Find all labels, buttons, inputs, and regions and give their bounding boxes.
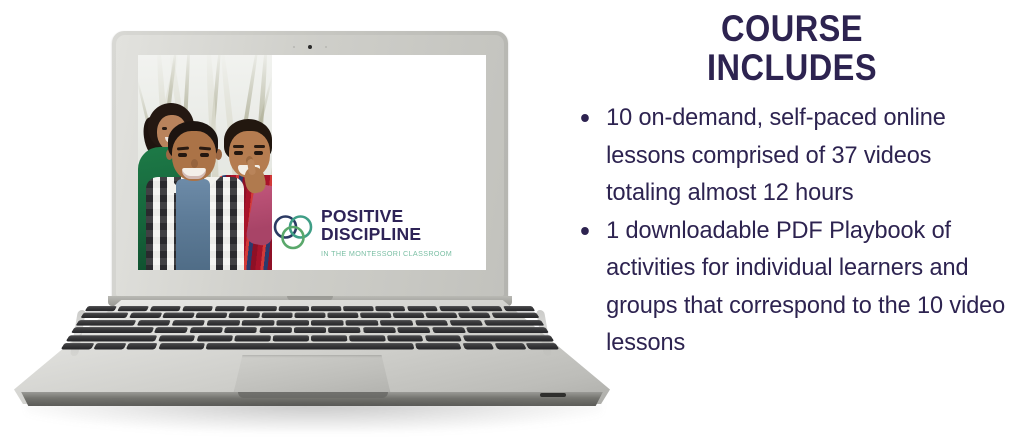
key[interactable] <box>137 320 172 326</box>
three-interlocking-circles-icon <box>272 213 314 256</box>
key[interactable] <box>503 306 536 311</box>
key-control[interactable] <box>93 343 126 349</box>
key[interactable] <box>397 327 431 333</box>
course-photo <box>138 55 272 270</box>
key-shift-left[interactable] <box>66 335 158 341</box>
key[interactable] <box>431 327 465 333</box>
course-includes-list: 10 on-demand, self-paced online lessons … <box>560 99 1024 362</box>
key[interactable] <box>346 320 379 326</box>
key[interactable] <box>196 335 233 341</box>
keyboard-row <box>85 306 536 311</box>
slide-white-area: POSITIVE DISCIPLINE IN THE MONTESSORI CL… <box>272 55 486 270</box>
page-title: COURSE INCLUDES <box>588 0 996 87</box>
key[interactable] <box>414 320 448 326</box>
key[interactable] <box>241 320 274 326</box>
bullet-icon <box>581 227 589 235</box>
key[interactable] <box>261 313 292 318</box>
laptop-keyboard[interactable] <box>61 306 560 349</box>
key-command[interactable] <box>158 343 204 349</box>
key[interactable] <box>471 306 503 311</box>
key[interactable] <box>224 327 257 333</box>
key[interactable] <box>85 306 118 311</box>
key[interactable] <box>294 327 326 333</box>
key[interactable] <box>195 313 227 318</box>
key[interactable] <box>387 335 424 341</box>
key-return[interactable] <box>466 327 549 333</box>
key[interactable] <box>182 306 213 311</box>
key[interactable] <box>426 313 458 318</box>
key[interactable] <box>360 313 391 318</box>
laptop-screen[interactable]: POSITIVE DISCIPLINE IN THE MONTESSORI CL… <box>138 55 486 270</box>
key-command[interactable] <box>415 343 461 349</box>
key-option[interactable] <box>462 343 494 349</box>
key[interactable] <box>449 320 484 326</box>
key[interactable] <box>439 306 471 311</box>
list-item: 1 downloadable PDF Playbook of activitie… <box>560 212 1005 362</box>
key[interactable] <box>425 335 463 341</box>
key[interactable] <box>311 320 343 326</box>
heading-line-1: COURSE <box>721 8 863 49</box>
logo-title-line1: POSITIVE <box>321 206 403 226</box>
keyboard-row <box>80 313 539 318</box>
list-item: 10 on-demand, self-paced online lessons … <box>560 99 1005 212</box>
heading-line-2: INCLUDES <box>588 48 996 87</box>
key[interactable] <box>129 313 162 318</box>
webcam-row <box>116 43 504 51</box>
key[interactable] <box>311 306 341 311</box>
key-caps[interactable] <box>71 327 154 333</box>
key[interactable] <box>279 306 309 311</box>
key[interactable] <box>458 313 491 318</box>
key-arrow[interactable] <box>494 343 527 349</box>
sensor-icon <box>293 46 295 48</box>
key[interactable] <box>328 313 359 318</box>
key[interactable] <box>162 313 194 318</box>
list-item-text: 10 on-demand, self-paced online lessons … <box>606 99 1005 212</box>
key-fn[interactable] <box>61 343 94 349</box>
logo-text: POSITIVE DISCIPLINE IN THE MONTESSORI CL… <box>321 208 478 260</box>
key[interactable] <box>259 327 292 333</box>
bullet-icon <box>581 114 589 122</box>
key[interactable] <box>273 335 309 341</box>
key-option[interactable] <box>126 343 158 349</box>
key[interactable] <box>149 306 181 311</box>
key[interactable] <box>393 313 425 318</box>
laptop-front-lip <box>238 392 388 398</box>
key[interactable] <box>349 335 385 341</box>
positive-discipline-logo: POSITIVE DISCIPLINE IN THE MONTESSORI CL… <box>272 208 478 260</box>
key[interactable] <box>117 306 149 311</box>
key[interactable] <box>246 306 276 311</box>
key[interactable] <box>80 313 129 318</box>
keyboard-row <box>71 327 549 333</box>
key[interactable] <box>154 327 188 333</box>
laptop-trackpad[interactable] <box>233 355 391 395</box>
list-item-text: 1 downloadable PDF Playbook of activitie… <box>606 212 1005 362</box>
key[interactable] <box>407 306 438 311</box>
keyboard-row <box>61 343 560 349</box>
laptop-bezel: POSITIVE DISCIPLINE IN THE MONTESSORI CL… <box>116 35 504 296</box>
key[interactable] <box>171 320 205 326</box>
webcam-icon <box>308 45 312 49</box>
key[interactable] <box>158 335 196 341</box>
key[interactable] <box>228 313 259 318</box>
key[interactable] <box>276 320 308 326</box>
key[interactable] <box>328 327 361 333</box>
key[interactable] <box>343 306 373 311</box>
key[interactable] <box>295 313 326 318</box>
key[interactable] <box>363 327 396 333</box>
key[interactable] <box>214 306 245 311</box>
keyboard-row <box>66 335 554 341</box>
logo-title-line2: DISCIPLINE <box>321 224 421 244</box>
course-includes-panel: COURSE INCLUDES 10 on-demand, self-paced… <box>560 0 1024 440</box>
laptop-shadow <box>26 402 602 432</box>
key[interactable] <box>206 320 239 326</box>
laptop-lid: POSITIVE DISCIPLINE IN THE MONTESSORI CL… <box>112 31 508 299</box>
logo-tagline: IN THE MONTESSORI CLASSROOM <box>321 249 452 258</box>
key[interactable] <box>375 306 406 311</box>
key-space[interactable] <box>206 343 415 349</box>
key-shift-right[interactable] <box>462 335 554 341</box>
promo-graphic: POSITIVE DISCIPLINE IN THE MONTESSORI CL… <box>0 0 1024 440</box>
key[interactable] <box>235 335 271 341</box>
key[interactable] <box>491 313 540 318</box>
key[interactable] <box>311 335 347 341</box>
key[interactable] <box>189 327 223 333</box>
key-tab[interactable] <box>76 320 137 326</box>
keyboard-row <box>76 320 545 326</box>
key-arrow[interactable] <box>526 343 559 349</box>
laptop-mockup: POSITIVE DISCIPLINE IN THE MONTESSORI CL… <box>0 0 640 440</box>
sensor-icon <box>325 46 327 48</box>
key[interactable] <box>380 320 413 326</box>
key[interactable] <box>483 320 544 326</box>
